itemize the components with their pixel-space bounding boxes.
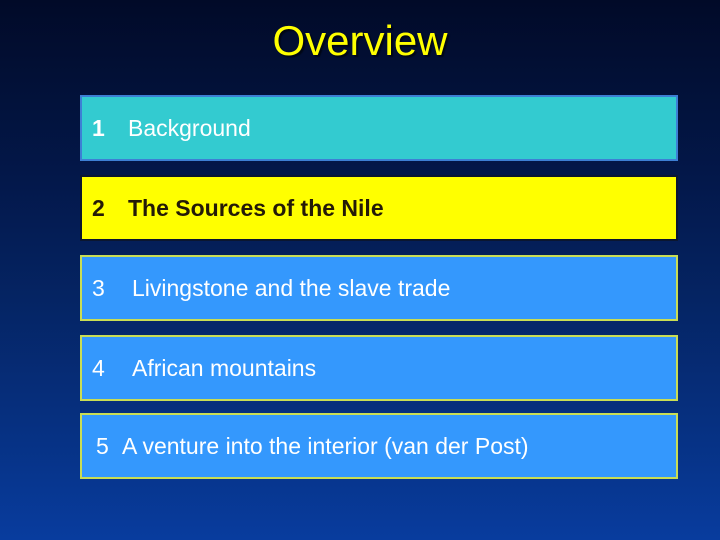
agenda-item-4[interactable]: 4 African mountains: [80, 335, 678, 401]
agenda-item-number: 4: [92, 355, 132, 382]
agenda-item-3[interactable]: 3 Livingstone and the slave trade: [80, 255, 678, 321]
agenda-item-label: The Sources of the Nile: [128, 195, 384, 222]
agenda-list: 1 Background 2 The Sources of the Nile 3…: [0, 0, 720, 540]
agenda-item-number: 2: [92, 195, 128, 222]
agenda-item-number: 5: [96, 433, 122, 460]
agenda-item-1[interactable]: 1 Background: [80, 95, 678, 161]
agenda-item-label: Background: [128, 115, 251, 142]
agenda-item-label: African mountains: [132, 355, 316, 382]
agenda-item-number: 1: [92, 115, 128, 142]
presentation-slide: Overview 1 Background 2 The Sources of t…: [0, 0, 720, 540]
agenda-item-number: 3: [92, 275, 132, 302]
agenda-item-label: Livingstone and the slave trade: [132, 275, 450, 302]
agenda-item-label: A venture into the interior (van der Pos…: [122, 433, 529, 460]
agenda-item-2[interactable]: 2 The Sources of the Nile: [80, 175, 678, 241]
agenda-item-5[interactable]: 5 A venture into the interior (van der P…: [80, 413, 678, 479]
